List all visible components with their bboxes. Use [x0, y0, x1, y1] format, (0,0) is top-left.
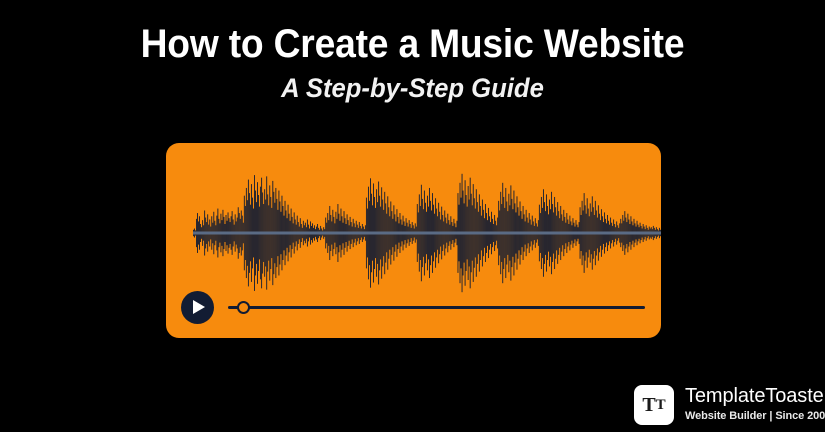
audio-player-card [166, 143, 661, 338]
page-title: How to Create a Music Website [29, 20, 796, 68]
brand-mark-letter-small: T [656, 398, 666, 413]
brand-logo: TT TemplateToaster Website Builder | Sin… [634, 385, 825, 425]
player-transport-bar [166, 290, 661, 338]
progress-slider-track[interactable] [228, 306, 645, 309]
brand-tagline: Website Builder | Since 2009 [685, 409, 825, 424]
brand-text-block: TemplateToaster Website Builder | Since … [685, 386, 825, 424]
poster-canvas: How to Create a Music Website A Step-by-… [0, 0, 825, 432]
brand-mark-letter-big: T [642, 395, 655, 415]
brand-name: TemplateToaster [685, 386, 825, 407]
templatetoaster-mark-icon: TT [634, 385, 674, 425]
waveform-visualization[interactable] [193, 168, 661, 298]
page-subtitle: A Step-by-Step Guide [21, 70, 805, 106]
waveform-svg [193, 168, 661, 298]
play-triangle-icon [193, 300, 205, 314]
progress-slider-knob[interactable] [237, 301, 250, 314]
brand-mark-letters: TT [634, 385, 674, 425]
play-button[interactable] [181, 291, 214, 324]
